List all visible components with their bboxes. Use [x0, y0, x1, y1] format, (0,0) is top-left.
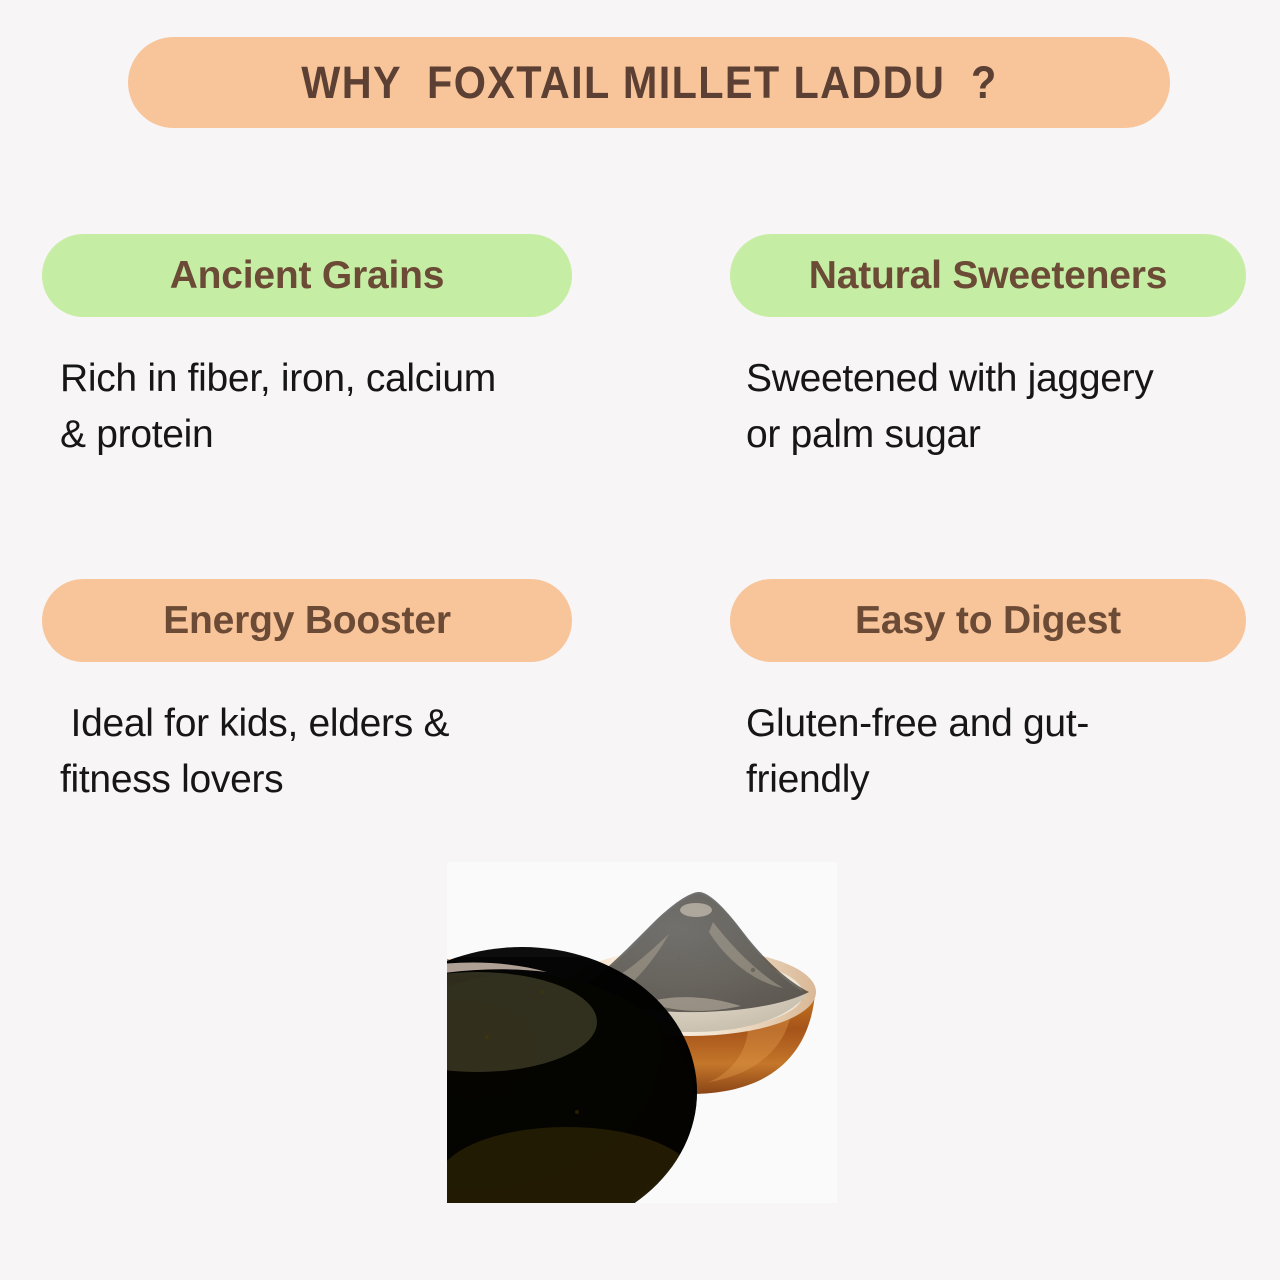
benefit-description: Ideal for kids, elders & fitness lovers: [42, 696, 580, 808]
benefit-title-pill: Easy to Digest: [730, 579, 1246, 662]
benefit-description: Rich in fiber, iron, calcium & protein: [42, 351, 580, 463]
benefit-title: Energy Booster: [163, 599, 451, 643]
millet-bowls-illustration: [447, 862, 837, 1203]
benefit-title-pill: Ancient Grains: [42, 234, 572, 317]
benefit-title: Easy to Digest: [855, 599, 1121, 643]
millet-product-photo: [447, 862, 837, 1203]
benefit-title: Ancient Grains: [170, 254, 445, 298]
benefit-card-energy-booster: Energy Booster Ideal for kids, elders & …: [42, 579, 572, 808]
benefit-title-pill: Energy Booster: [42, 579, 572, 662]
benefit-title-pill: Natural Sweeteners: [730, 234, 1246, 317]
header-pill: WHY FOXTAIL MILLET LADDU ?: [128, 37, 1170, 128]
benefit-card-ancient-grains: Ancient Grains Rich in fiber, iron, calc…: [42, 234, 572, 463]
benefit-card-natural-sweeteners: Natural Sweeteners Sweetened with jagger…: [730, 234, 1260, 463]
benefit-description: Gluten-free and gut- friendly: [730, 696, 1246, 808]
benefit-card-easy-to-digest: Easy to Digest Gluten-free and gut- frie…: [730, 579, 1260, 808]
benefit-description: Sweetened with jaggery or palm sugar: [730, 351, 1246, 463]
page-title: WHY FOXTAIL MILLET LADDU ?: [301, 57, 997, 109]
benefit-title: Natural Sweeteners: [809, 254, 1167, 298]
poster-canvas: WHY FOXTAIL MILLET LADDU ? Ancient Grain…: [0, 0, 1280, 1280]
